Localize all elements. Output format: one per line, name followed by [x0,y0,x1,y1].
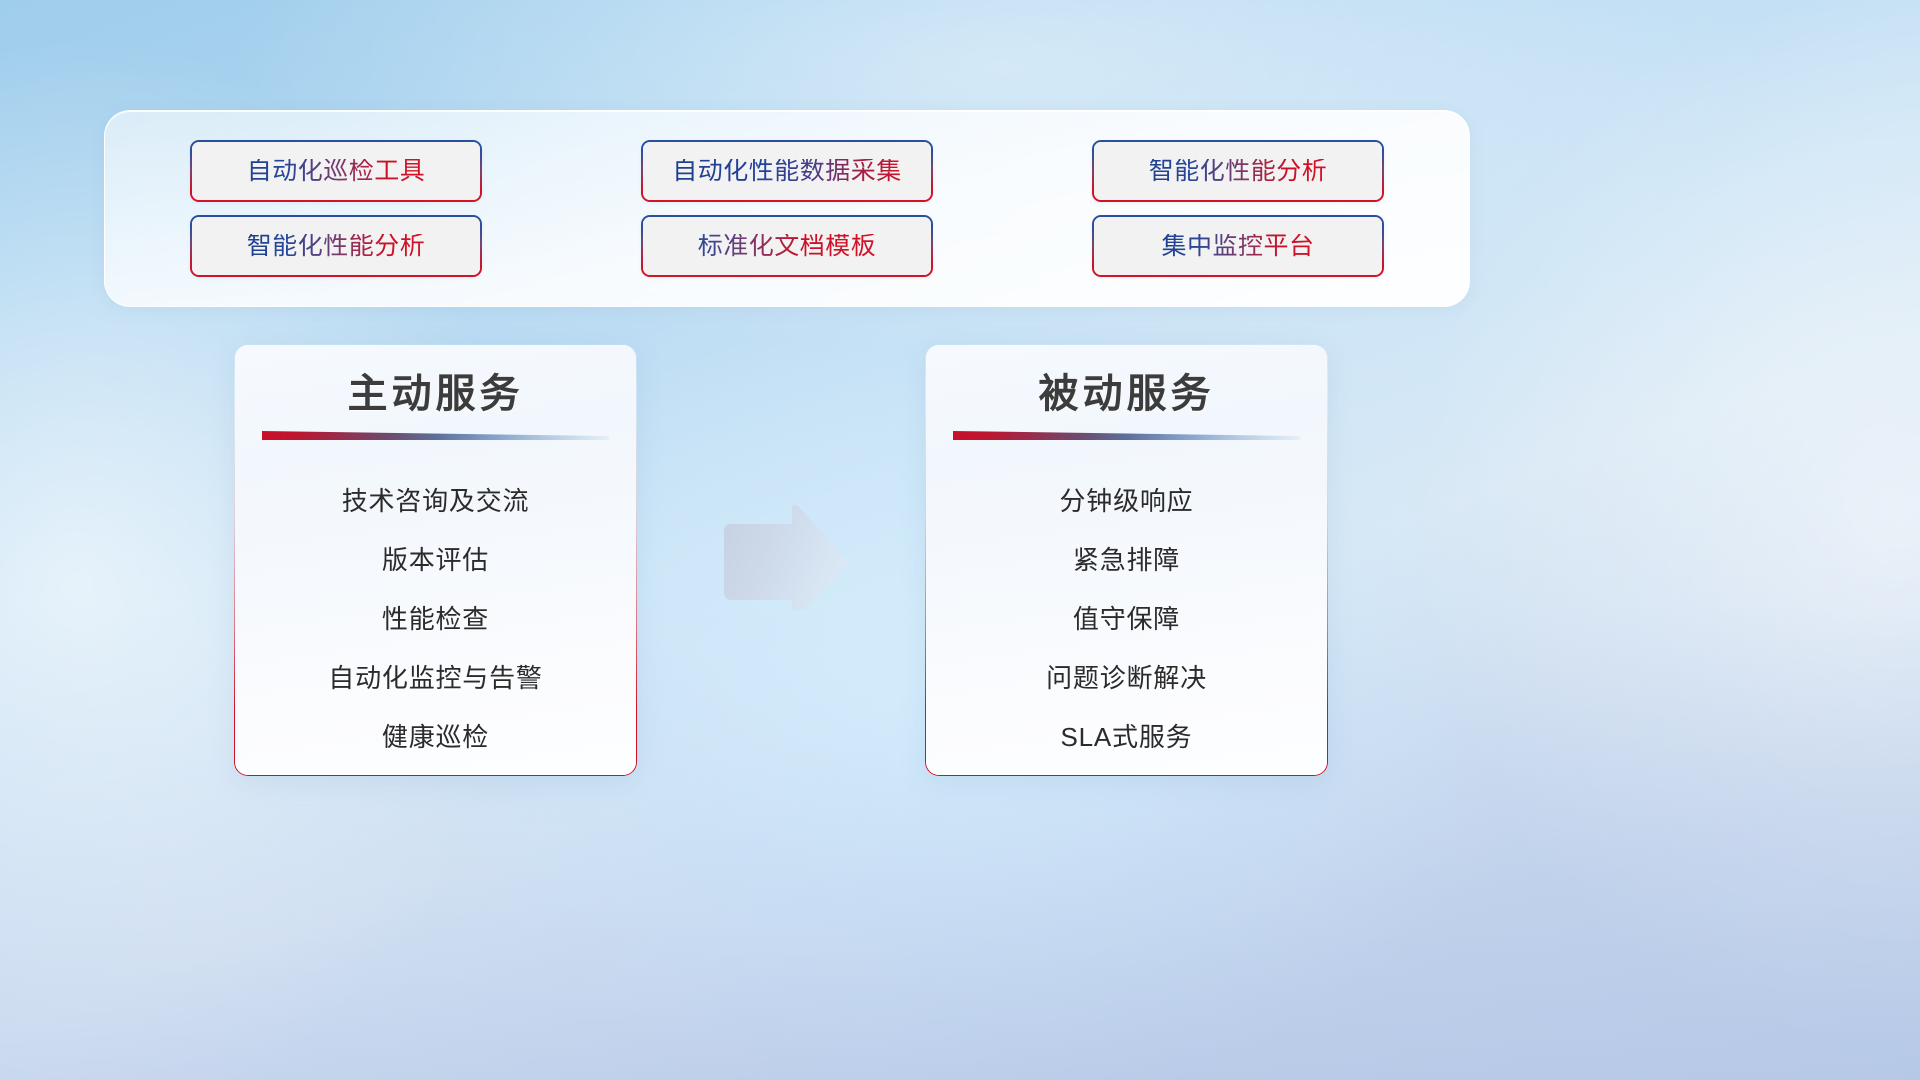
service-list-item: 版本评估 [382,529,489,588]
capability-pill-inner: 自动化性能数据采集 [643,142,931,200]
service-card-divider [262,431,610,440]
divider-bar [262,431,610,440]
service-card-body: 主动服务 技术咨询及交流 版本评估 性能检查 自动化监控与告警 健康巡检 [235,345,636,775]
service-card-divider [953,431,1301,440]
capability-pill[interactable]: 智能化性能分析 [190,215,482,277]
capability-pill-label: 自动化巡检工具 [247,159,426,184]
service-list-item: SLA式服务 [1061,706,1193,765]
service-item-list: 技术咨询及交流 版本评估 性能检查 自动化监控与告警 健康巡检 [235,470,636,765]
capability-pill-label: 智能化性能分析 [247,234,426,259]
slide-canvas: 自动化巡检工具 自动化性能数据采集 智能化性能分析 智能化性能分析 [0,0,1920,1080]
service-card-proactive[interactable]: 主动服务 技术咨询及交流 版本评估 性能检查 自动化监控与告警 健康巡检 [234,344,637,776]
capability-pill[interactable]: 自动化巡检工具 [190,140,482,202]
service-card-title: 主动服务 [235,371,636,417]
capability-pill-label: 集中监控平台 [1161,234,1314,259]
service-card-body: 被动服务 分钟级响应 紧急排障 值守保障 问题诊断解决 SLA式服务 [926,345,1327,775]
service-list-item: 分钟级响应 [1059,470,1193,529]
divider-bar [953,431,1301,440]
capability-pill-inner: 集中监控平台 [1094,217,1382,275]
service-list-item: 性能检查 [382,588,489,647]
service-list-item: 自动化监控与告警 [328,647,542,706]
capability-pill[interactable]: 标准化文档模板 [641,215,933,277]
capability-pill-inner: 标准化文档模板 [643,217,931,275]
service-list-item: 值守保障 [1073,588,1180,647]
capabilities-panel: 自动化巡检工具 自动化性能数据采集 智能化性能分析 智能化性能分析 [104,110,1470,307]
capability-pill-inner: 智能化性能分析 [192,217,480,275]
capability-pill[interactable]: 智能化性能分析 [1092,140,1384,202]
service-item-list: 分钟级响应 紧急排障 值守保障 问题诊断解决 SLA式服务 [926,470,1327,765]
capability-pill-label: 智能化性能分析 [1149,159,1328,184]
service-list-item: 问题诊断解决 [1046,647,1207,706]
capability-pill-label: 自动化性能数据采集 [672,159,902,184]
capability-pill-inner: 智能化性能分析 [1094,142,1382,200]
service-list-item: 健康巡检 [382,706,489,765]
capability-pill[interactable]: 自动化性能数据采集 [641,140,933,202]
capability-pill-grid: 自动化巡检工具 自动化性能数据采集 智能化性能分析 智能化性能分析 [185,141,1389,276]
arrow-right-icon [716,500,848,610]
service-card-title: 被动服务 [926,371,1327,417]
capability-pill[interactable]: 集中监控平台 [1092,215,1384,277]
service-list-item: 紧急排障 [1073,529,1180,588]
capability-pill-inner: 自动化巡检工具 [192,142,480,200]
capability-pill-label: 标准化文档模板 [698,234,877,259]
service-list-item: 技术咨询及交流 [342,470,530,529]
service-card-reactive[interactable]: 被动服务 分钟级响应 紧急排障 值守保障 问题诊断解决 SLA式服务 [925,344,1328,776]
